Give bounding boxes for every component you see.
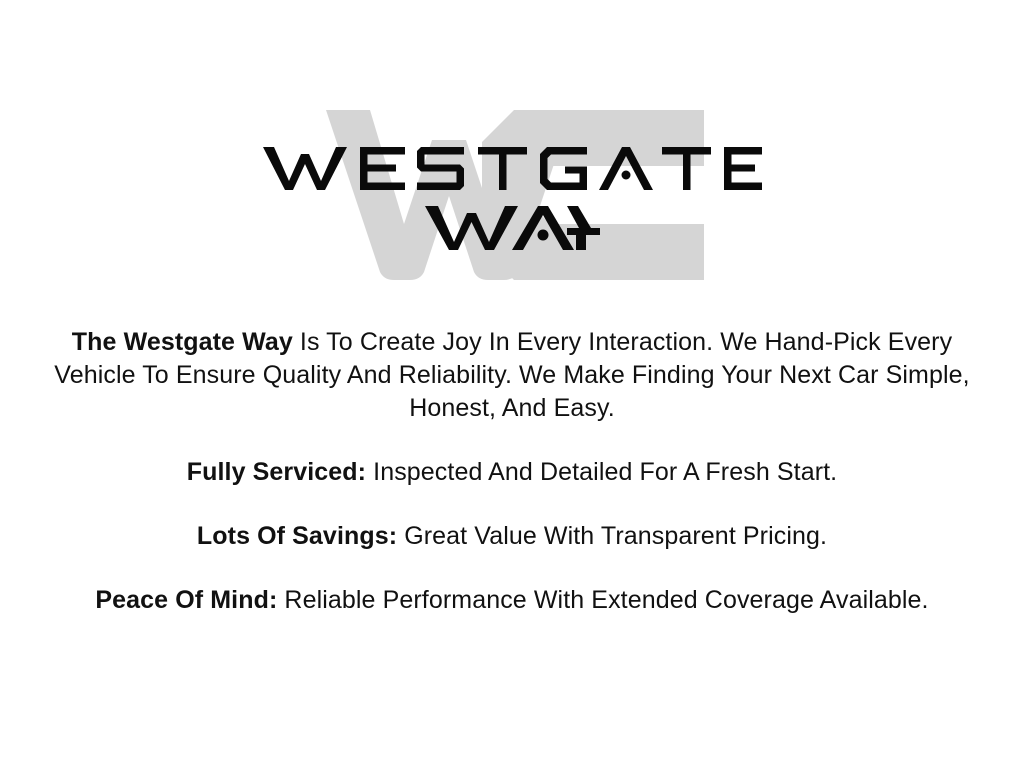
slide-canvas: The Westgate Way Is To Create Joy In Eve… [0,0,1024,768]
point-fully-serviced: Fully Serviced: Inspected And Detailed F… [47,456,977,489]
body-copy: The Westgate Way Is To Create Joy In Eve… [0,326,1024,617]
logo-word-westgate [0,144,1024,196]
point-lead: Fully Serviced: [187,458,366,486]
intro-lead: The Westgate Way [72,328,293,356]
point-rest: Inspected And Detailed For A Fresh Start… [366,458,837,486]
point-rest: Great Value With Transparent Pricing. [397,522,827,550]
logo-word-way [0,204,1024,256]
point-rest: Reliable Performance With Extended Cover… [277,586,928,614]
brand-logo [0,96,1024,296]
logo-wordmark [0,96,1024,296]
intro-paragraph: The Westgate Way Is To Create Joy In Eve… [52,326,972,425]
point-lead: Peace Of Mind: [95,586,277,614]
point-lead: Lots Of Savings: [197,522,397,550]
point-peace-of-mind: Peace Of Mind: Reliable Performance With… [47,584,977,617]
point-lots-of-savings: Lots Of Savings: Great Value With Transp… [47,520,977,553]
